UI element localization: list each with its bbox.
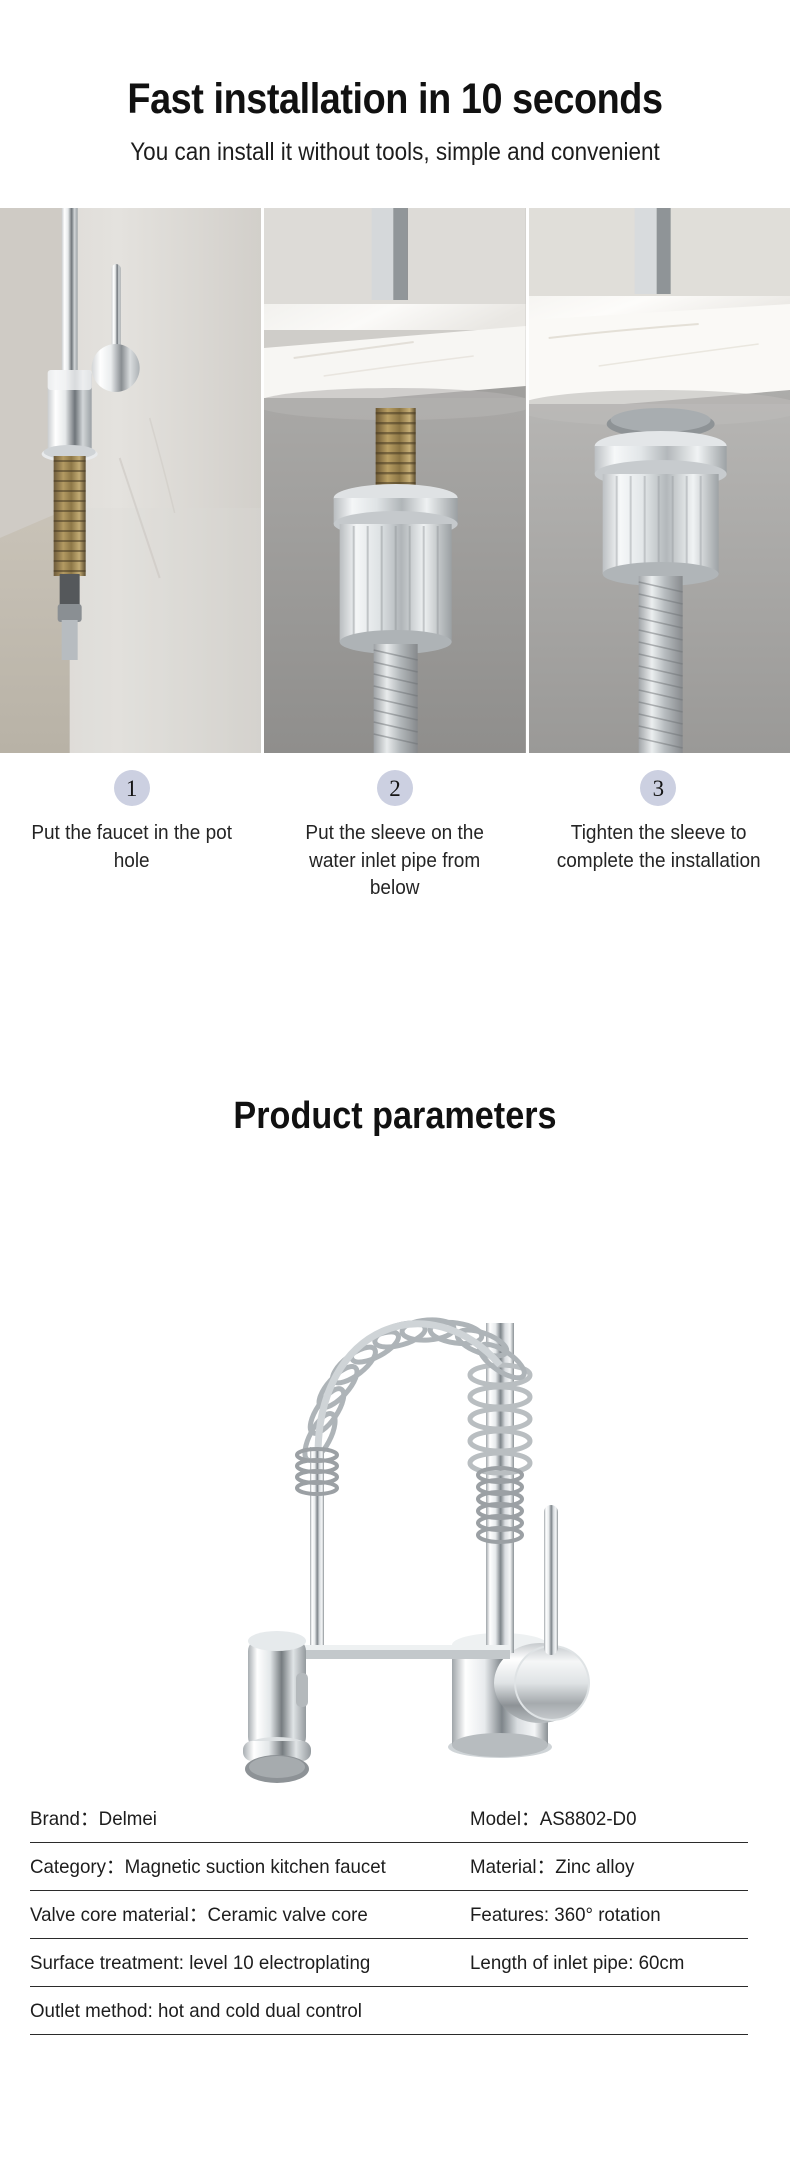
step-number-badge: 1 — [114, 770, 150, 806]
step-caption: Put the faucet in the pot hole — [20, 820, 244, 875]
spec-surface-treatment: Surface treatment: level 10 electroplati… — [30, 1954, 452, 1987]
spec-category: Category：Magnetic suction kitchen faucet — [30, 1858, 452, 1891]
spec-brand: Brand：Delmei — [30, 1810, 452, 1843]
spec-inlet-pipe-length: Length of inlet pipe: 60cm — [470, 1954, 737, 1987]
product-detail-page: Fast installation in 10 seconds You can … — [0, 0, 790, 2175]
step-caption: Tighten the sleeve to complete the insta… — [547, 820, 771, 875]
table-row: Category：Magnetic suction kitchen faucet… — [30, 1843, 748, 1891]
specification-table: Brand：Delmei Model：AS8802-D0 Category：Ma… — [30, 1795, 748, 2035]
step-caption: Put the sleeve on the water inlet pipe f… — [283, 820, 507, 903]
page-subtitle: You can install it without tools, simple… — [40, 140, 751, 165]
step-number-badge: 2 — [377, 770, 413, 806]
installation-step-1: 1 Put the faucet in the pot hole — [0, 770, 263, 903]
spec-features: Features: 360° rotation — [470, 1906, 737, 1939]
installation-photo-1 — [0, 208, 261, 753]
installation-steps: 1 Put the faucet in the pot hole 2 Put t… — [0, 770, 790, 903]
table-row: Brand：Delmei Model：AS8802-D0 — [30, 1795, 748, 1843]
product-photo — [0, 1175, 790, 1790]
installation-step-2: 2 Put the sleeve on the water inlet pipe… — [263, 770, 526, 903]
step-number-badge: 3 — [640, 770, 676, 806]
spec-valve-core-material: Valve core material：Ceramic valve core — [30, 1906, 452, 1939]
spec-model: Model：AS8802-D0 — [470, 1810, 737, 1843]
table-row: Surface treatment: level 10 electroplati… — [30, 1939, 748, 1987]
installation-photo-3 — [529, 208, 790, 753]
spec-outlet-method: Outlet method: hot and cold dual control — [30, 2002, 719, 2035]
table-row: Outlet method: hot and cold dual control — [30, 1987, 748, 2035]
installation-photo-2 — [264, 208, 525, 753]
page-title: Fast installation in 10 seconds — [47, 78, 742, 121]
table-row: Valve core material：Ceramic valve core F… — [30, 1891, 748, 1939]
spec-material: Material：Zinc alloy — [470, 1858, 737, 1891]
installation-photo-strip — [0, 208, 790, 753]
product-parameters-title: Product parameters — [40, 1097, 751, 1135]
installation-step-3: 3 Tighten the sleeve to complete the ins… — [527, 770, 790, 903]
